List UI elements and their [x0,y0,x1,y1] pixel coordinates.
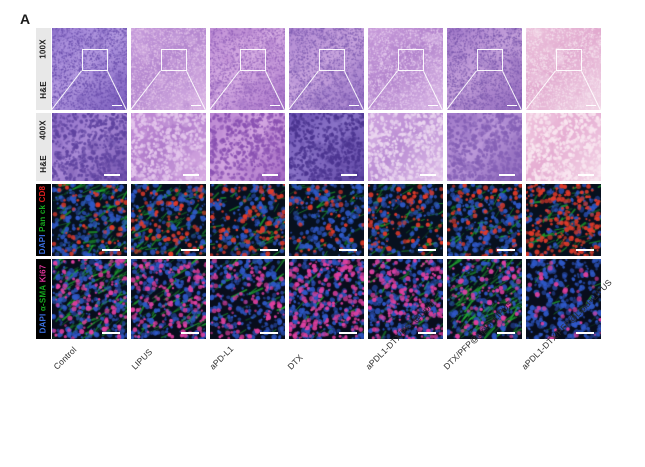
micrograph-if-ki67-control [52,259,127,339]
scale-bar [181,332,199,334]
scale-bar [578,174,594,176]
micrograph-if-cd8-apdl1-dtx-pfp-lipid [368,184,443,256]
inset-region-box [477,49,503,71]
marker-label-dapi: DAPI [39,314,48,334]
figure-panel-a: A 100XH&E400XH&EDAPI Pan ck CD8DAPI α-SM… [0,0,645,467]
zoom-guide-line [52,70,82,110]
group-label-dtx: DTX [285,352,304,371]
row-label-magnification: 400X [40,120,48,139]
scale-bar [339,332,357,334]
marker-separator [39,282,48,284]
micrograph-he-100x-dtx [289,28,364,110]
marker-label-cd8: CD8 [39,186,48,203]
scale-bar [576,332,594,334]
micrograph-he-400x-dtx [289,113,364,181]
scale-bar [497,332,515,334]
micrograph-he-100x-dtx-pfp-lipid-lipus [447,28,522,110]
micrograph-he-100x-apdl1-dtx-pfp-lipid [368,28,443,110]
marker-label-sma: α-SMA [39,285,48,311]
marker-label-dapi: DAPI [39,234,48,254]
micrograph-he-400x-dtx-pfp-lipid-lipus [447,113,522,181]
row-label-markers: DAPI α-SMA Ki67 [40,265,48,334]
micrograph-he-400x-apdl1-dtx-pfp-lipid [368,113,443,181]
scale-bar [499,174,515,176]
micrograph-he-400x-apdl1-dtx-pfp-lipid-lipus [526,113,601,181]
row-label-stain: H&E [40,155,48,173]
marker-label-panck: Pan ck [39,205,48,232]
micrograph-if-ki67-lipus [131,259,206,339]
scale-bar [497,249,515,251]
micrograph-he-100x-apdl1-dtx-pfp-lipid-lipus [526,28,601,110]
inset-region-box [319,49,345,71]
row-label-magnification: 100X [40,39,48,58]
inset-region-box [240,49,266,71]
zoom-guide-line [131,70,161,110]
row-label-he-100x: 100XH&E [36,28,51,110]
micrograph-if-cd8-control [52,184,127,256]
inset-region-box [556,49,582,71]
row-label-stain: H&E [40,81,48,99]
micrograph-if-cd8-apdl1-dtx-pfp-lipid-lipus [526,184,601,256]
micrograph-if-cd8-dtx [289,184,364,256]
zoom-guide-line [210,70,240,110]
row-label-markers: DAPI Pan ck CD8 [40,186,48,254]
scale-bar [112,105,122,107]
scale-bar [181,249,199,251]
row-label-if-cd8: DAPI Pan ck CD8 [36,184,51,256]
micrograph-if-ki67-dtx [289,259,364,339]
scale-bar [260,249,278,251]
scale-bar [104,174,120,176]
micrograph-he-100x-lipus [131,28,206,110]
micrograph-he-100x-apdl1 [210,28,285,110]
row-label-he-400x: 400XH&E [36,113,51,181]
scale-bar [586,105,596,107]
scale-bar [260,332,278,334]
scale-bar [270,105,280,107]
zoom-guide-line [526,70,556,110]
micrograph-he-400x-apdl1 [210,113,285,181]
micrograph-he-100x-control [52,28,127,110]
panel-letter: A [20,11,30,27]
micrograph-he-400x-control [52,113,127,181]
scale-bar [418,332,436,334]
scale-bar [418,249,436,251]
scale-bar [183,174,199,176]
scale-bar [428,105,438,107]
group-label-control: Control [51,345,78,372]
inset-region-box [398,49,424,71]
zoom-guide-line [289,70,319,110]
marker-label-ki67: Ki67 [39,265,48,283]
marker-separator [39,232,48,234]
row-label-if-ki67: DAPI α-SMA Ki67 [36,259,51,339]
scale-bar [102,332,120,334]
scale-bar [102,249,120,251]
marker-separator [39,202,48,204]
zoom-guide-line [368,70,398,110]
inset-region-box [161,49,187,71]
micrograph-he-400x-lipus [131,113,206,181]
micrograph-if-cd8-apdl1 [210,184,285,256]
micrograph-if-ki67-apdl1 [210,259,285,339]
scale-bar [341,174,357,176]
scale-bar [339,249,357,251]
scale-bar [191,105,201,107]
micrograph-if-cd8-lipus [131,184,206,256]
scale-bar [507,105,517,107]
micrograph-if-cd8-dtx-pfp-lipid-lipus [447,184,522,256]
zoom-guide-line [447,70,477,110]
inset-region-box [82,49,108,71]
group-label-lipus: LIPUS [129,347,154,372]
scale-bar [576,249,594,251]
scale-bar [349,105,359,107]
scale-bar [420,174,436,176]
group-label-apdl1: aPD-L1 [207,344,235,372]
scale-bar [262,174,278,176]
